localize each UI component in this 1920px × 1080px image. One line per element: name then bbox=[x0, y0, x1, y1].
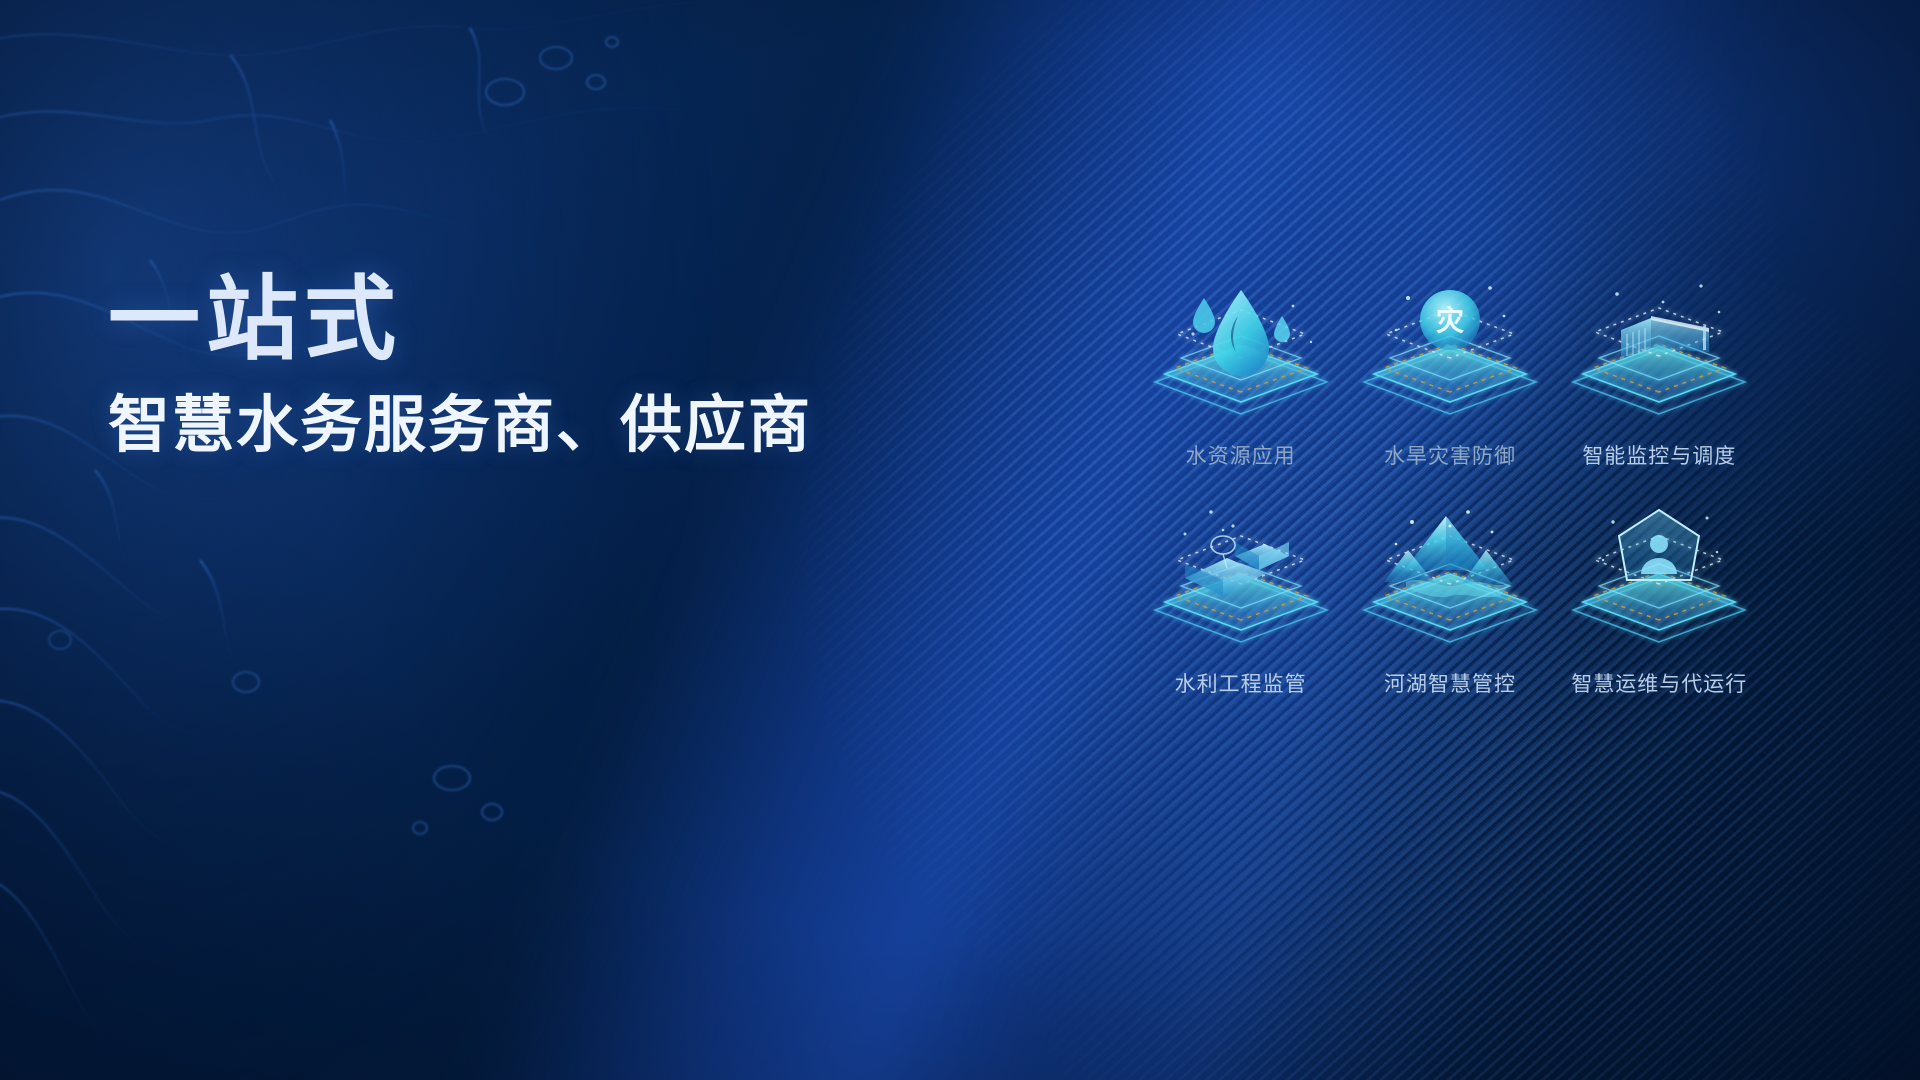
service-item-smart-ops[interactable]: 智慧运维与代运行 bbox=[1559, 500, 1760, 724]
disaster-badge-text: 灾 bbox=[1436, 304, 1464, 336]
water-texture bbox=[0, 0, 760, 1080]
slide-canvas: 一站式 智慧水务服务商、供应商 bbox=[0, 0, 1920, 1080]
service-item-label: 水利工程监管 bbox=[1175, 668, 1307, 698]
service-item-flood-drought-defense[interactable]: 灾 水旱灾害防御 bbox=[1349, 272, 1550, 496]
service-item-water-resource[interactable]: 水资源应用 bbox=[1140, 272, 1341, 496]
service-item-label: 智慧运维与代运行 bbox=[1571, 668, 1747, 698]
service-item-label: 水资源应用 bbox=[1186, 440, 1296, 470]
page-title: 一站式 bbox=[108, 272, 1008, 369]
river-mountain-icon bbox=[1350, 500, 1550, 662]
service-item-label: 水旱灾害防御 bbox=[1384, 440, 1516, 470]
service-item-smart-monitoring[interactable]: 智能监控与调度 bbox=[1559, 272, 1760, 496]
shield-operator-icon bbox=[1559, 500, 1759, 662]
service-icon-grid: 水资源应用 bbox=[1140, 272, 1760, 724]
water-drop-icon bbox=[1141, 272, 1341, 434]
service-item-label: 智能监控与调度 bbox=[1582, 440, 1736, 470]
disaster-sphere-icon: 灾 bbox=[1350, 272, 1550, 434]
service-item-river-lake-control[interactable]: 河湖智慧管控 bbox=[1349, 500, 1550, 724]
service-item-label: 河湖智慧管控 bbox=[1384, 668, 1516, 698]
dam-reservoir-icon bbox=[1559, 272, 1759, 434]
hydro-facility-icon bbox=[1141, 500, 1341, 662]
service-item-hydro-project-supervision[interactable]: 水利工程监管 bbox=[1140, 500, 1341, 724]
page-subtitle: 智慧水务服务商、供应商 bbox=[108, 391, 1008, 460]
headline-block: 一站式 智慧水务服务商、供应商 bbox=[108, 272, 1008, 460]
